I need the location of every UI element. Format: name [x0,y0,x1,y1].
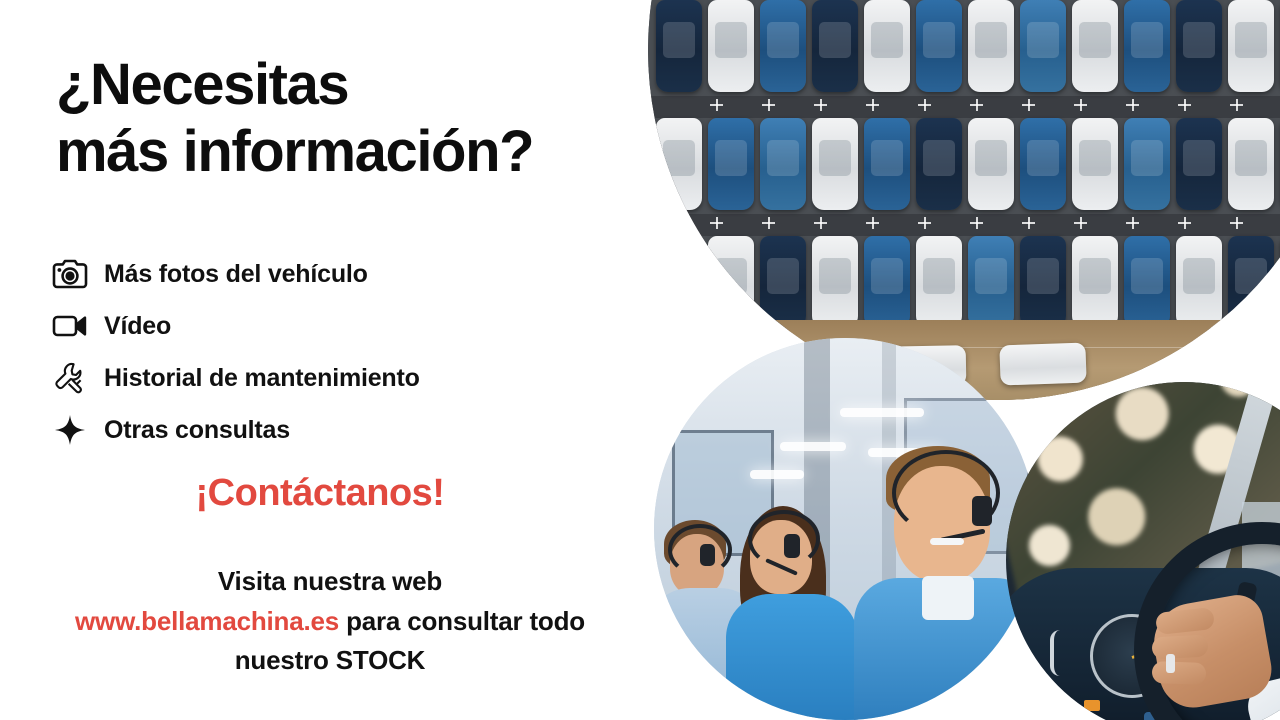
car-row-1 [648,0,1280,96]
camera-icon [50,254,90,294]
website-url[interactable]: www.bellamachina.es [75,606,339,636]
call-center-agents-photo [654,338,1036,720]
driver-steering-wheel-photo [1006,382,1280,720]
car-row-2 [648,118,1280,214]
list-item-label: Vídeo [104,312,171,341]
contact-cta: ¡Contáctanos! [0,472,640,515]
sparkle-icon [50,410,90,450]
tools-icon [50,358,90,398]
website-block: Visita nuestra web www.bellamachina.es p… [0,562,660,681]
list-item-label: Historial de mantenimiento [104,364,420,393]
website-line-2-rest: para consultar todo [339,606,585,636]
list-item: Más fotos del vehículo [50,248,610,300]
list-item-label: Otras consultas [104,416,290,445]
feature-list: Más fotos del vehículo Vídeo Historial d… [50,248,610,456]
website-line-2: www.bellamachina.es para consultar todo [0,602,660,642]
video-icon [50,306,90,346]
list-item-label: Más fotos del vehículo [104,260,368,289]
website-line-3: nuestro STOCK [0,641,660,681]
wedding-ring [1166,654,1175,673]
website-line-1: Visita nuestra web [0,562,660,602]
car-row-3 [648,236,1280,332]
list-item: Vídeo [50,300,610,352]
promo-banner: ¿Necesitas más información? Más fotos de… [0,0,1280,720]
list-item: Otras consultas [50,404,610,456]
page-title: ¿Necesitas más información? [56,52,533,185]
list-item: Historial de mantenimiento [50,352,610,404]
